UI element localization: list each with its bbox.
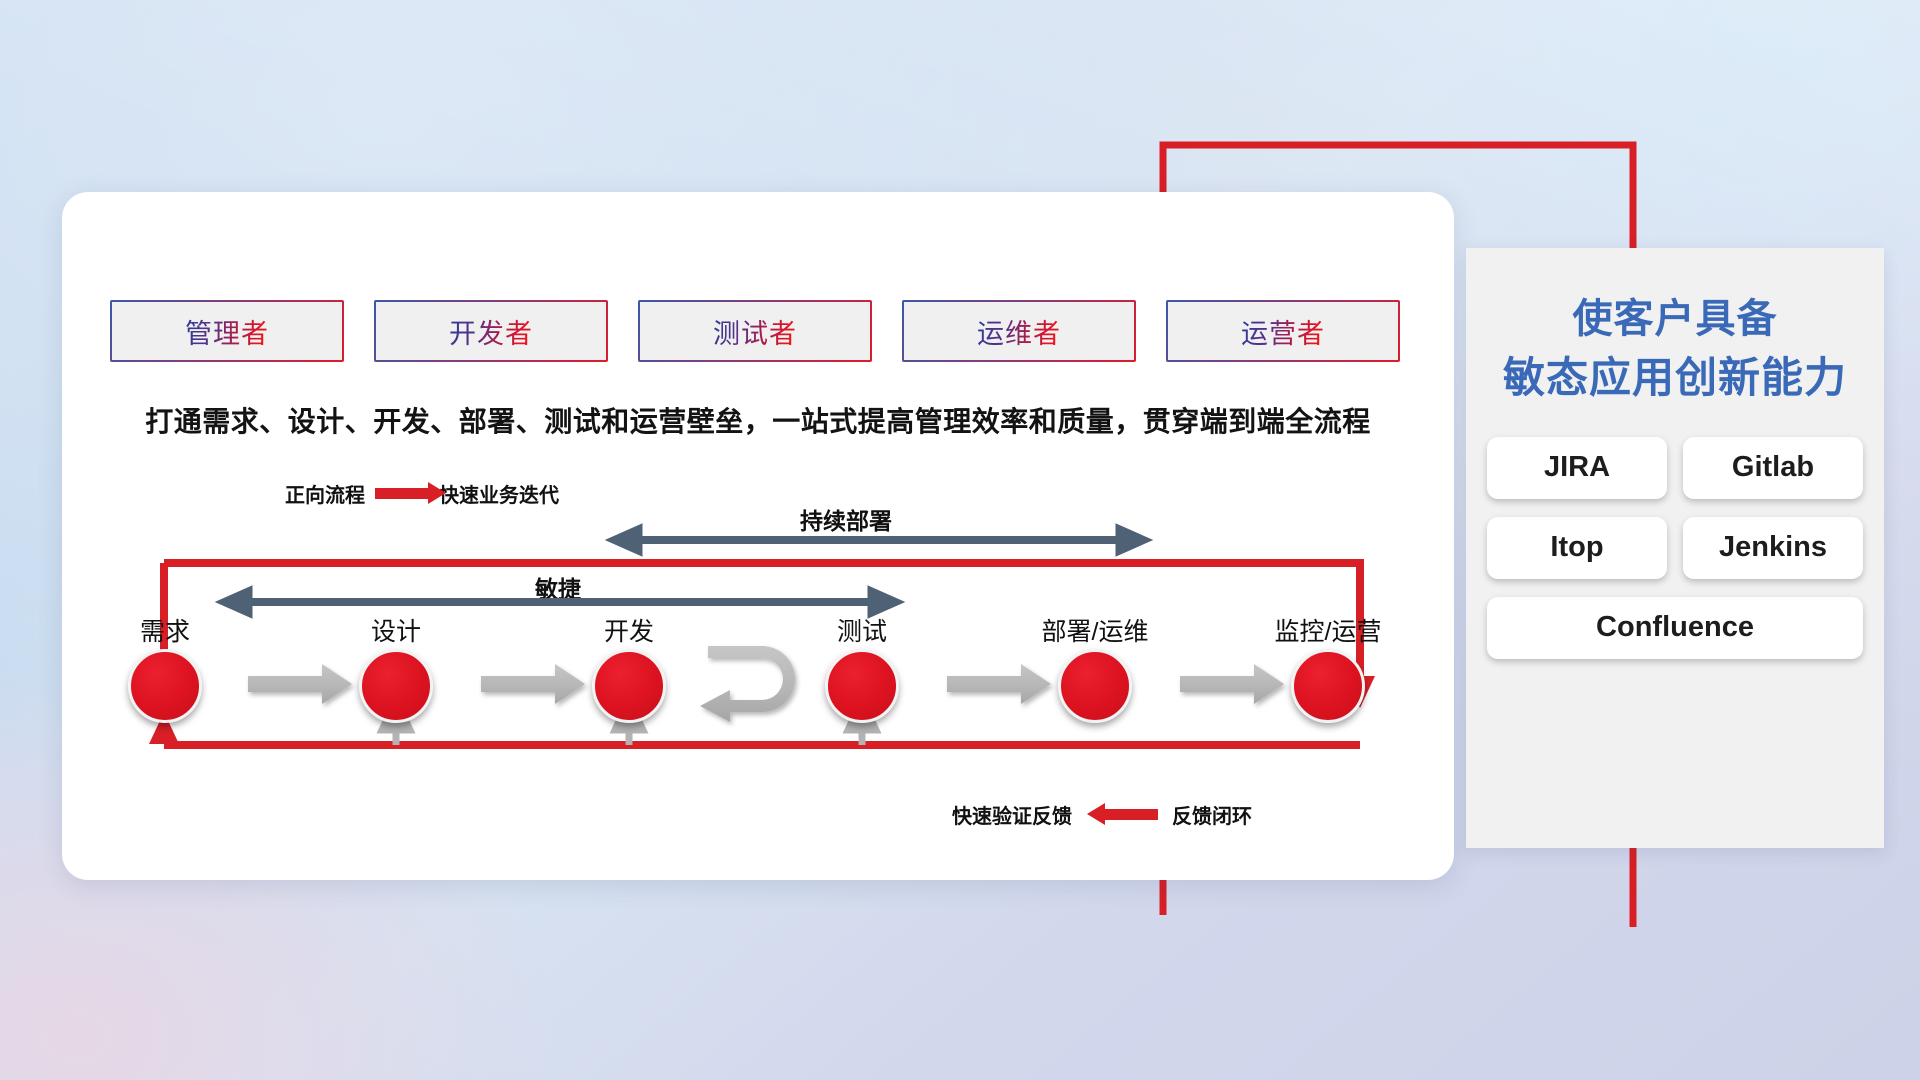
stage-dot-icon — [128, 649, 202, 723]
role-box-inner: 运维者 — [904, 302, 1134, 360]
stage-node-deploy-ops[interactable]: 部署/运维 — [1035, 612, 1155, 723]
panel-title-line2: 敏态应用创新能力 — [1466, 348, 1884, 409]
feedback-result-label: 快速验证反馈 — [952, 800, 1072, 829]
role-box-inner: 开发者 — [376, 302, 606, 360]
stage-node-monitor-operations[interactable]: 监控/运营 — [1268, 612, 1388, 723]
capability-panel: 使客户具备 敏态应用创新能力 JIRA Gitlab Itop Jenkins … — [1466, 248, 1884, 848]
stage-dot-icon — [359, 649, 433, 723]
stage-node-design[interactable]: 设计 — [336, 612, 456, 723]
role-box-developer[interactable]: 开发者 — [374, 300, 608, 362]
feedback-loop-caption: 快速验证反馈 反馈闭环 — [952, 800, 1252, 829]
stage-label: 需求 — [105, 612, 225, 648]
role-box-inner: 测试者 — [640, 302, 870, 360]
forward-flow-source-label: 正向流程 — [285, 479, 365, 508]
role-box-inner: 管理者 — [112, 302, 342, 360]
forward-flow-target-label: 快速业务迭代 — [439, 479, 559, 508]
red-arrow-right-icon — [375, 488, 429, 499]
stage-row: 需求 设计 开发 测试 部署/运维 监控/运营 — [110, 612, 1400, 742]
role-box-operations[interactable]: 运营者 — [1166, 300, 1400, 362]
role-label: 管理者 — [185, 312, 269, 351]
continuous-deployment-label: 持续部署 — [800, 502, 892, 536]
stage-node-development[interactable]: 开发 — [569, 612, 689, 723]
stage-label: 部署/运维 — [1035, 612, 1155, 648]
forward-flow-caption: 正向流程 快速业务迭代 — [285, 479, 559, 508]
tool-button-jira[interactable]: JIRA — [1487, 437, 1667, 499]
tool-button-grid: JIRA Gitlab Itop Jenkins Confluence — [1480, 437, 1870, 659]
role-box-tester[interactable]: 测试者 — [638, 300, 872, 362]
role-box-manager[interactable]: 管理者 — [110, 300, 344, 362]
role-label: 测试者 — [713, 312, 797, 351]
stage-label: 开发 — [569, 612, 689, 648]
feedback-loop-label: 反馈闭环 — [1172, 800, 1252, 829]
stage-dot-icon — [592, 649, 666, 723]
red-arrow-left-icon — [1104, 809, 1158, 820]
stage-node-requirement[interactable]: 需求 — [105, 612, 225, 723]
agile-label: 敏捷 — [535, 570, 581, 604]
tool-button-gitlab[interactable]: Gitlab — [1683, 437, 1863, 499]
stage-label: 测试 — [802, 612, 922, 648]
stage-dot-icon — [1291, 649, 1365, 723]
role-box-ops[interactable]: 运维者 — [902, 300, 1136, 362]
role-box-inner: 运营者 — [1168, 302, 1398, 360]
role-label: 运维者 — [977, 312, 1061, 351]
tool-button-itop[interactable]: Itop — [1487, 517, 1667, 579]
role-label: 开发者 — [449, 312, 533, 351]
headline-text: 打通需求、设计、开发、部署、测试和运营壁垒，一站式提高管理效率和质量，贯穿端到端… — [62, 400, 1454, 440]
panel-title-line1: 使客户具备 — [1573, 297, 1778, 341]
tool-button-confluence[interactable]: Confluence — [1487, 597, 1863, 659]
tool-button-jenkins[interactable]: Jenkins — [1683, 517, 1863, 579]
stage-node-test[interactable]: 测试 — [802, 612, 922, 723]
role-label: 运营者 — [1241, 312, 1325, 351]
stage-dot-icon — [825, 649, 899, 723]
main-card — [62, 192, 1454, 880]
stage-label: 设计 — [336, 612, 456, 648]
role-box-row: 管理者 开发者 测试者 运维者 运营者 — [110, 300, 1400, 362]
stage-dot-icon — [1058, 649, 1132, 723]
stage-label: 监控/运营 — [1268, 612, 1388, 648]
panel-title: 使客户具备 敏态应用创新能力 — [1466, 248, 1884, 409]
